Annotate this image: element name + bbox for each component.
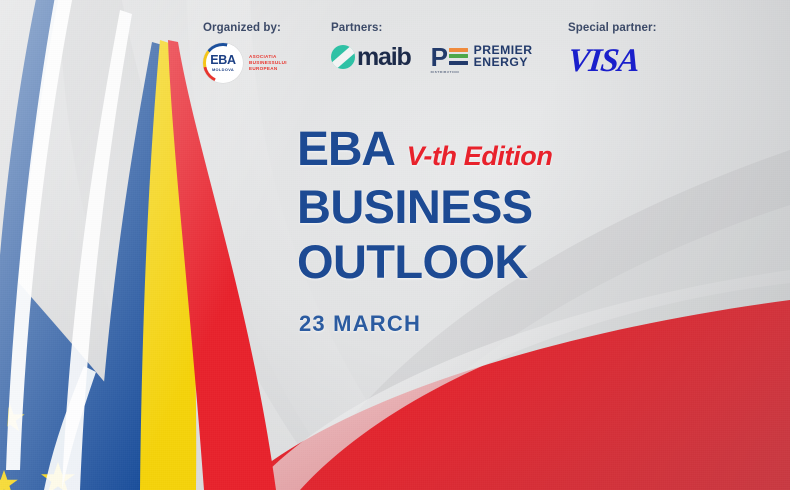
premier-energy-mark-subtext: DISTRIBUTION [431, 70, 460, 74]
event-date: 23 MARCH [299, 311, 552, 337]
partners-group: Partners: maib P DISTRIBUTION PRE [331, 22, 533, 71]
organized-by-label: Organized by: [203, 22, 287, 34]
partner-logo-row: maib P DISTRIBUTION PREMIER ENERGY [331, 44, 533, 71]
event-brand: EBA [297, 126, 395, 174]
eba-roundel-subtext: MOLDOVA [210, 68, 236, 72]
premier-energy-wordmark: PREMIER ENERGY [474, 44, 533, 71]
eba-roundel-text: EBA [210, 54, 236, 67]
premier-energy-logo[interactable]: P DISTRIBUTION PREMIER ENERGY [431, 44, 533, 71]
partners-label: Partners: [331, 22, 533, 34]
event-edition: V-th Edition [407, 143, 553, 170]
eba-roundel-icon: EBA MOLDOVA [203, 43, 243, 83]
event-title-block: EBA V-th Edition BUSINESS OUTLOOK 23 MAR… [297, 126, 552, 337]
premier-energy-word-2: ENERGY [474, 56, 533, 68]
premier-energy-p-letter: P [431, 46, 447, 70]
maib-wordmark: maib [357, 45, 411, 70]
organized-by-group: Organized by: EBA MOLDOVA ASOCIATIA BUSI… [203, 22, 287, 83]
event-poster: Organized by: EBA MOLDOVA ASOCIATIA BUSI… [0, 0, 790, 490]
special-partner-group: Special partner: VISA [568, 22, 657, 78]
title-first-line: EBA V-th Edition [297, 126, 552, 174]
eba-wordmark-line-3: EUROPEAN [249, 66, 287, 72]
eba-wordmark: ASOCIATIA BUSINESSULUI EUROPEAN [249, 54, 287, 72]
premier-energy-mark-icon: P DISTRIBUTION [431, 46, 469, 71]
eba-moldova-logo[interactable]: EBA MOLDOVA ASOCIATIA BUSINESSULUI EUROP… [203, 43, 287, 83]
special-partner-label: Special partner: [568, 22, 657, 34]
maib-circle-icon [331, 45, 355, 69]
visa-logo[interactable]: VISA [566, 45, 658, 78]
maib-logo[interactable]: maib [331, 45, 411, 70]
premier-energy-bars-icon [449, 48, 468, 68]
sponsor-header: Organized by: EBA MOLDOVA ASOCIATIA BUSI… [0, 0, 790, 100]
event-title-line-1: BUSINESS [297, 180, 552, 235]
event-title-line-2: OUTLOOK [297, 235, 552, 290]
